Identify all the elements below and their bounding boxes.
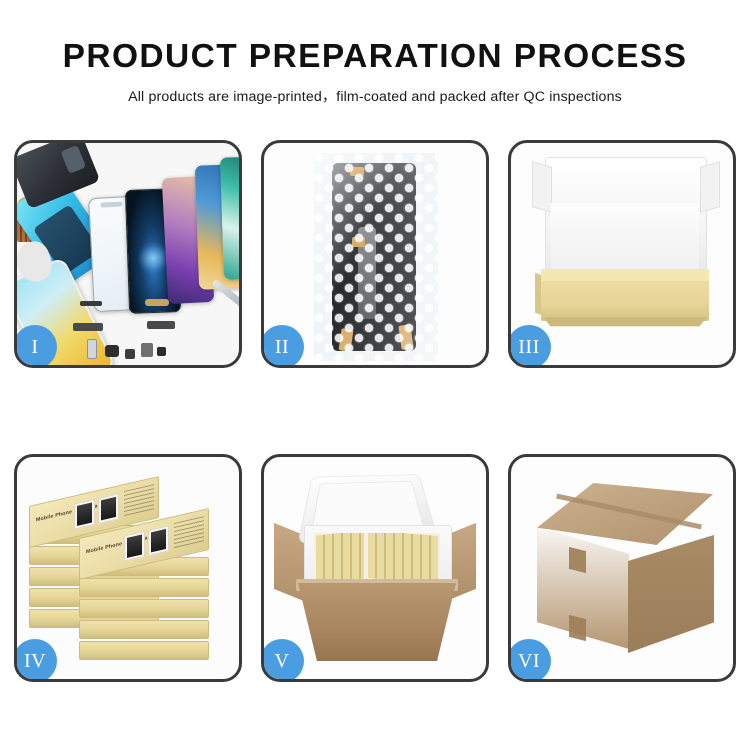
page-title: PRODUCT PREPARATION PROCESS bbox=[0, 40, 750, 74]
step-badge-5: V bbox=[261, 639, 304, 682]
step-badge-4: IV bbox=[14, 639, 57, 682]
carton-side-face-icon bbox=[628, 535, 714, 653]
page-subtitle: All products are image-printed，film-coat… bbox=[0, 86, 750, 106]
stacked-box bbox=[79, 578, 209, 597]
plastic-sheen-icon bbox=[314, 153, 438, 361]
process-step-panel-3: III bbox=[508, 140, 736, 368]
packed-box-group-left bbox=[316, 533, 364, 581]
small-part-icon bbox=[157, 347, 166, 356]
flex-cable-b-icon bbox=[145, 299, 169, 306]
box-base-icon bbox=[541, 269, 709, 321]
step-badge-3: III bbox=[508, 325, 551, 368]
bubble-bag-icon bbox=[314, 153, 438, 361]
box-label-window-b bbox=[98, 493, 119, 524]
chip-component-icon bbox=[125, 349, 135, 359]
step-badge-2: II bbox=[261, 325, 304, 368]
packed-boxes-icon bbox=[314, 533, 440, 581]
process-step-panel-6: VI bbox=[508, 454, 736, 682]
stacked-box bbox=[79, 641, 209, 660]
process-step-grid: I II bbox=[14, 140, 736, 682]
process-step-panel-5: V bbox=[261, 454, 489, 682]
carton-tape-lower-icon bbox=[569, 615, 586, 641]
product-preparation-infographic: PRODUCT PREPARATION PROCESS All products… bbox=[0, 0, 750, 750]
stacked-box bbox=[79, 599, 209, 618]
box-label-window-a bbox=[124, 531, 145, 562]
process-step-panel-2: II bbox=[261, 140, 489, 368]
stacked-box bbox=[79, 620, 209, 639]
process-step-panel-1: I bbox=[14, 140, 242, 368]
box-foam-liner-icon bbox=[551, 203, 699, 273]
flex-cable-d-icon bbox=[147, 321, 175, 329]
header: PRODUCT PREPARATION PROCESS All products… bbox=[0, 40, 750, 106]
carton-body-icon bbox=[298, 583, 456, 661]
carton-tape-upper-icon bbox=[569, 547, 586, 573]
camera-module-icon bbox=[105, 345, 119, 357]
battery-connector-icon bbox=[87, 339, 97, 359]
box-label-window-a bbox=[74, 499, 95, 530]
flex-cable-c-icon bbox=[73, 323, 103, 331]
step-badge-6: VI bbox=[508, 639, 551, 682]
packed-box-group-right bbox=[368, 533, 438, 581]
box-label-spec-lines bbox=[174, 516, 204, 549]
speaker-module-icon bbox=[141, 343, 153, 357]
box-label-window-b bbox=[148, 525, 169, 556]
phone-teal-icon bbox=[220, 156, 239, 279]
process-step-panel-4: Mobile Phone Spare Parts Mobile Phone Sp… bbox=[14, 454, 242, 682]
flex-cable-a-icon bbox=[80, 301, 102, 306]
step-badge-1: I bbox=[14, 325, 57, 368]
box-label-spec-lines bbox=[124, 484, 154, 517]
